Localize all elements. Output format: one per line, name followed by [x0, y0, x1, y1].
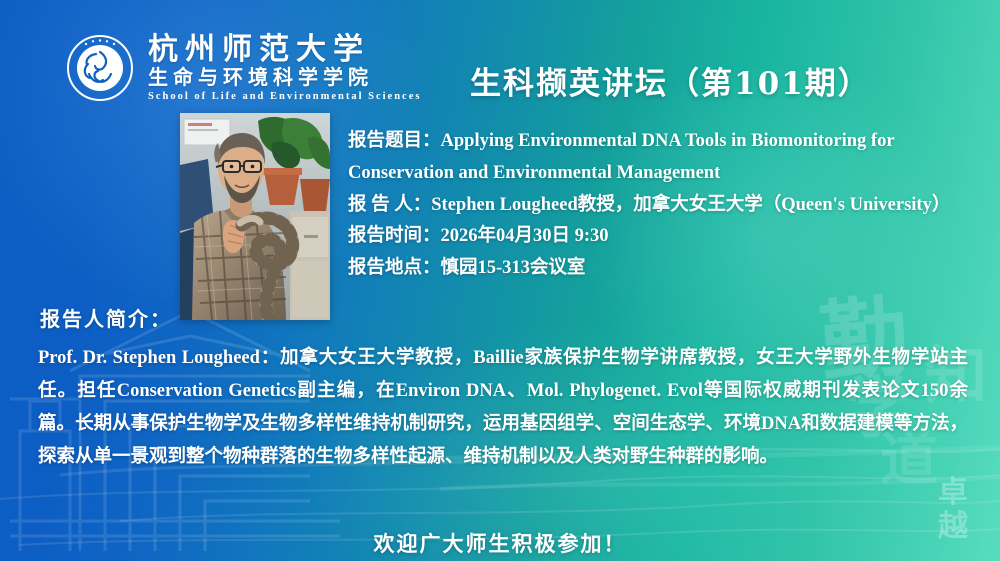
talk-topic-line: 报告题目：Applying Environmental DNA Tools in…: [348, 126, 988, 190]
talk-speaker-label: 报 告 人：: [348, 195, 431, 215]
talk-speaker-value: Stephen Lougheed教授，加拿大女王大学（Queen's Unive…: [431, 195, 950, 215]
university-name: 杭州师范大学: [148, 34, 421, 66]
page-title: 生科撷英讲坛（第101期）: [470, 58, 871, 103]
university-emblem-icon: [66, 34, 134, 102]
speaker-bio-text: Prof. Dr. Stephen Lougheed：加拿大女王大学教授，Bai…: [38, 342, 968, 474]
speaker-photo: [180, 113, 330, 320]
school-name-cn: 生命与环境科学学院: [148, 66, 421, 89]
talk-time-value: 2026年04月30日 9:30: [441, 226, 609, 246]
talk-place-label: 报告地点：: [348, 258, 441, 278]
talk-details: 报告题目：Applying Environmental DNA Tools in…: [348, 126, 988, 285]
welcome-note: 欢迎广大师生积极参加！: [0, 528, 1000, 558]
talk-place-line: 报告地点：慎园15-313会议室: [348, 253, 988, 285]
talk-topic-label: 报告题目：: [348, 131, 441, 151]
talk-speaker-line: 报 告 人：Stephen Lougheed教授，加拿大女王大学（Queen's…: [348, 190, 988, 222]
talk-place-value: 慎园15-313会议室: [441, 258, 586, 278]
speaker-bio-label: 报告人简介：: [40, 303, 172, 332]
seminar-poster: 勤 学 知 道 卓 越: [0, 0, 1000, 561]
corner-watermark-1: 卓: [938, 478, 968, 508]
talk-time-label: 报告时间：: [348, 226, 441, 246]
university-logo: 杭州师范大学 生命与环境科学学院 School of Life and Envi…: [66, 34, 421, 102]
school-name-en: School of Life and Environmental Science…: [148, 91, 421, 102]
talk-time-line: 报告时间：2026年04月30日 9:30: [348, 221, 988, 253]
